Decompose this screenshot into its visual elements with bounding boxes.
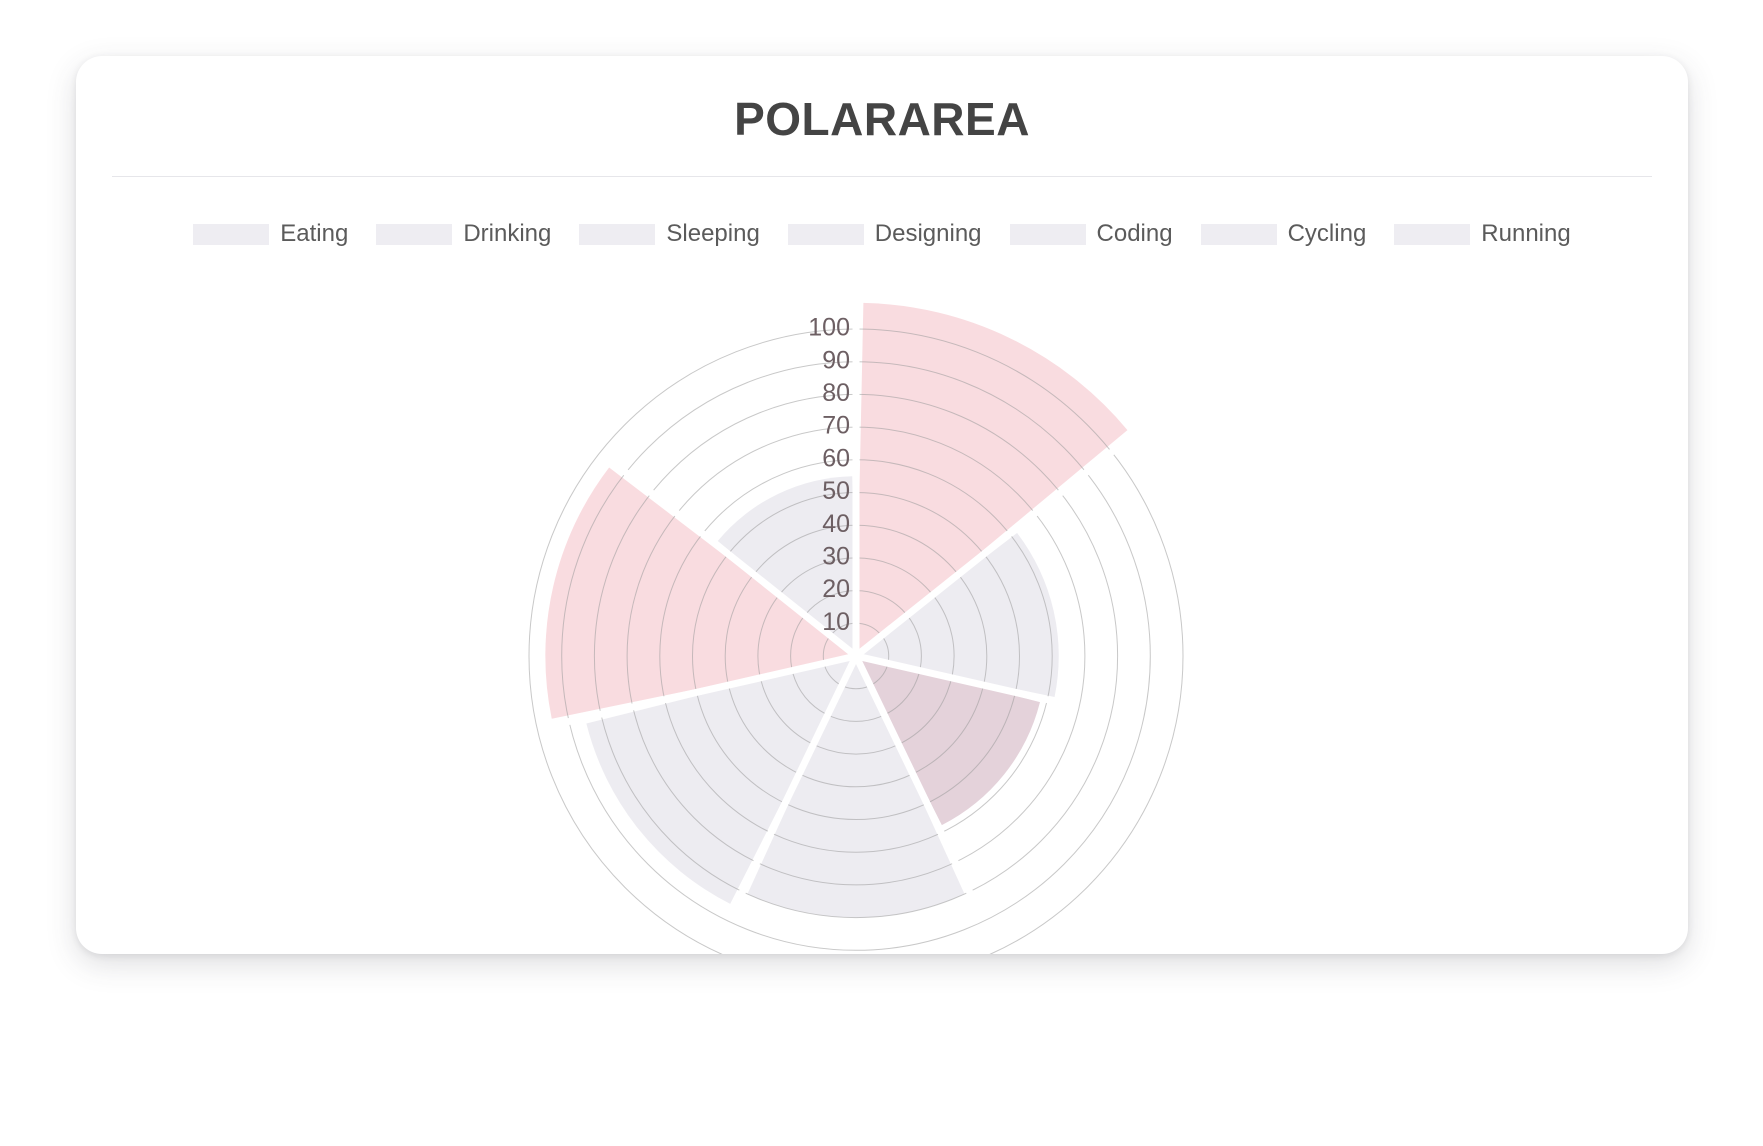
polar-area-chart: 102030405060708090100 <box>76 56 1688 954</box>
radial-tick-label-50: 50 <box>822 477 850 505</box>
radial-tick-label-60: 60 <box>822 444 850 472</box>
radial-tick-label-100: 100 <box>808 314 850 342</box>
polar-area-svg: 102030405060708090100 <box>76 56 1688 954</box>
radial-tick-label-30: 30 <box>822 543 850 571</box>
radial-tick-label-90: 90 <box>822 346 850 374</box>
radial-tick-label-40: 40 <box>822 510 850 538</box>
radial-tick-label-80: 80 <box>822 379 850 407</box>
radial-tick-label-10: 10 <box>822 608 850 636</box>
chart-card: POLARAREA EatingDrinkingSleepingDesignin… <box>76 56 1688 954</box>
page-root: POLARAREA EatingDrinkingSleepingDesignin… <box>0 0 1763 1146</box>
radial-tick-label-70: 70 <box>822 412 850 440</box>
radial-tick-label-20: 20 <box>822 575 850 603</box>
